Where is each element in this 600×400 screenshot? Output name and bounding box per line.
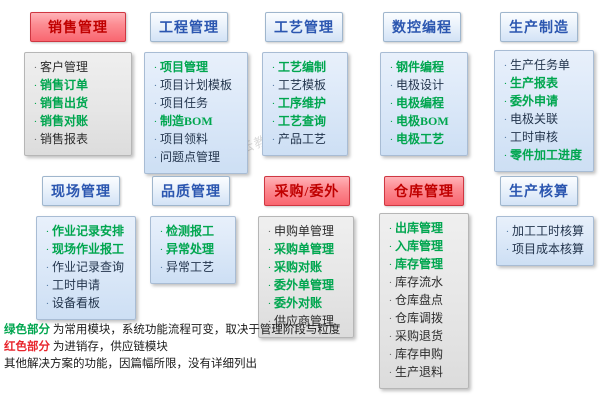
bullet-icon: ·	[265, 260, 274, 276]
list-item-label: 产品工艺	[278, 131, 326, 147]
bullet-icon: ·	[501, 94, 510, 110]
module-list-cnc: ·钢件编程·电极设计·电极编程·电极BOM·电极工艺	[380, 52, 468, 156]
list-item-label: 零件加工进度	[510, 147, 582, 163]
list-item-label: 委外对账	[274, 295, 322, 311]
list-item-label: 入库管理	[395, 238, 443, 254]
list-item[interactable]: ·委外申请	[501, 93, 589, 110]
module-list-costing: ·加工工时核算·项目成本核算	[496, 216, 594, 266]
bullet-icon: ·	[151, 78, 160, 94]
bullet-icon: ·	[387, 60, 396, 76]
bullet-icon: ·	[386, 347, 395, 363]
bullet-icon: ·	[386, 221, 395, 237]
bullet-icon: ·	[31, 132, 40, 148]
list-item[interactable]: ·钢件编程	[387, 59, 463, 76]
module-header-manufacture[interactable]: 生产制造	[500, 12, 578, 42]
bullet-icon: ·	[265, 242, 274, 258]
bullet-icon: ·	[151, 150, 160, 166]
list-item[interactable]: ·采购退货	[386, 328, 464, 345]
list-item[interactable]: ·作业记录查询	[43, 259, 131, 276]
list-item[interactable]: ·仓库盘点	[386, 292, 464, 309]
bullet-icon: ·	[269, 78, 278, 94]
list-item[interactable]: ·作业记录安排	[43, 223, 131, 240]
list-item[interactable]: ·检测报工	[157, 223, 231, 240]
bullet-icon: ·	[157, 242, 166, 258]
bullet-icon: ·	[269, 114, 278, 130]
list-item[interactable]: ·设备看板	[43, 295, 131, 312]
list-item-label: 库存管理	[395, 256, 443, 272]
legend-footer: 绿色部分 为常用模块，系统功能流程可变，取决于管理阶段与粒度 红色部分 为进销存…	[4, 322, 364, 373]
list-item-label: 项目领料	[160, 131, 208, 147]
list-item-label: 电极设计	[396, 77, 444, 93]
list-item[interactable]: ·库存管理	[386, 256, 464, 273]
list-item-label: 工艺模板	[278, 77, 326, 93]
list-item-label: 采购退货	[395, 328, 443, 344]
bullet-icon: ·	[43, 224, 52, 240]
module-item-list: ·项目管理·项目计划模板·项目任务·制造BOM·项目领料·问题点管理	[151, 59, 243, 166]
bullet-icon: ·	[501, 58, 510, 74]
list-item-label: 生产退料	[395, 364, 443, 380]
legend-row-red: 红色部分 为进销存，供应链模块	[4, 339, 364, 356]
module-list-sales: ·客户管理·销售订单·销售出货·销售对账·销售报表	[24, 52, 132, 156]
list-item[interactable]: ·零件加工进度	[501, 147, 589, 164]
list-item-label: 销售对账	[40, 113, 88, 129]
bullet-icon: ·	[387, 78, 396, 94]
module-list-manufacture: ·生产任务单·生产报表·委外申请·电极关联·工时审核·零件加工进度	[494, 50, 594, 172]
list-item-label: 销售出货	[40, 95, 88, 111]
list-item[interactable]: ·现场作业报工	[43, 241, 131, 258]
list-item[interactable]: ·项目管理	[151, 59, 243, 76]
list-item-label: 作业记录安排	[52, 223, 124, 239]
list-item-label: 库存流水	[395, 274, 443, 290]
list-item[interactable]: ·电极设计	[387, 77, 463, 94]
list-item-label: 项目成本核算	[512, 241, 584, 257]
module-header-costing[interactable]: 生产核算	[500, 176, 578, 206]
list-item-label: 加工工时核算	[512, 223, 584, 239]
bullet-icon: ·	[503, 242, 512, 258]
module-item-list: ·申购单管理·采购单管理·采购对账·委外单管理·委外对账·供应商管理	[265, 223, 349, 330]
module-list-engineering: ·项目管理·项目计划模板·项目任务·制造BOM·项目领料·问题点管理	[144, 52, 248, 174]
list-item[interactable]: ·申购单管理	[265, 223, 349, 240]
list-item-label: 项目管理	[160, 59, 208, 75]
bullet-icon: ·	[269, 60, 278, 76]
list-item-label: 电极关联	[510, 111, 558, 127]
list-item[interactable]: ·工艺模板	[269, 77, 343, 94]
bullet-icon: ·	[43, 278, 52, 294]
bullet-icon: ·	[387, 96, 396, 112]
bullet-icon: ·	[501, 112, 510, 128]
list-item-label: 采购对账	[274, 259, 322, 275]
module-list-quality: ·检测报工·异常处理·异常工艺	[150, 216, 236, 284]
bullet-icon: ·	[265, 296, 274, 312]
module-header-engineering[interactable]: 工程管理	[150, 12, 228, 42]
list-item-label: 钢件编程	[396, 59, 444, 75]
list-item-label: 委外申请	[510, 93, 558, 109]
list-item-label: 异常工艺	[166, 259, 214, 275]
list-item[interactable]: ·采购单管理	[265, 241, 349, 258]
module-list-shopfloor: ·作业记录安排·现场作业报工·作业记录查询·工时申请·设备看板	[36, 216, 136, 320]
list-item[interactable]: ·生产退料	[386, 364, 464, 381]
list-item-label: 异常处理	[166, 241, 214, 257]
list-item[interactable]: ·出库管理	[386, 220, 464, 237]
module-list-warehouse: ·出库管理·入库管理·库存管理·库存流水·仓库盘点·仓库调拨·采购退货·库存申购…	[379, 213, 469, 389]
bullet-icon: ·	[151, 114, 160, 130]
bullet-icon: ·	[157, 224, 166, 240]
list-item[interactable]: ·客户管理	[31, 59, 127, 76]
module-item-list: ·钢件编程·电极设计·电极编程·电极BOM·电极工艺	[387, 59, 463, 148]
bullet-icon: ·	[43, 242, 52, 258]
list-item-label: 申购单管理	[274, 223, 334, 239]
list-item[interactable]: ·入库管理	[386, 238, 464, 255]
bullet-icon: ·	[31, 114, 40, 130]
list-item-label: 检测报工	[166, 223, 214, 239]
bullet-icon: ·	[151, 60, 160, 76]
legend-red-text: 为进销存，供应链模块	[50, 341, 168, 353]
list-item-label: 销售订单	[40, 77, 88, 93]
bullet-icon: ·	[269, 96, 278, 112]
bullet-icon: ·	[31, 96, 40, 112]
list-item-label: 仓库调拨	[395, 310, 443, 326]
module-item-list: ·检测报工·异常处理·异常工艺	[157, 223, 231, 276]
list-item-label: 项目任务	[160, 95, 208, 111]
list-item[interactable]: ·销售对账	[31, 113, 127, 130]
bullet-icon: ·	[386, 239, 395, 255]
module-header-shopfloor[interactable]: 现场管理	[42, 176, 120, 206]
bullet-icon: ·	[157, 260, 166, 276]
list-item[interactable]: ·项目任务	[151, 95, 243, 112]
list-item[interactable]: ·电极工艺	[387, 131, 463, 148]
bullet-icon: ·	[386, 257, 395, 273]
list-item-label: 工时申请	[52, 277, 100, 293]
list-item[interactable]: ·采购对账	[265, 259, 349, 276]
module-item-list: ·出库管理·入库管理·库存管理·库存流水·仓库盘点·仓库调拨·采购退货·库存申购…	[386, 220, 464, 381]
list-item-label: 生产任务单	[510, 57, 570, 73]
list-item-label: 作业记录查询	[52, 259, 124, 275]
module-item-list: ·生产任务单·生产报表·委外申请·电极关联·工时审核·零件加工进度	[501, 57, 589, 164]
list-item-label: 客户管理	[40, 59, 88, 75]
list-item[interactable]: ·制造BOM	[151, 113, 243, 130]
list-item[interactable]: ·工艺编制	[269, 59, 343, 76]
list-item[interactable]: ·电极编程	[387, 95, 463, 112]
legend-red-keyword: 红色部分	[4, 341, 50, 353]
list-item-label: 工时审核	[510, 129, 558, 145]
list-item[interactable]: ·异常工艺	[157, 259, 231, 276]
list-item-label: 委外单管理	[274, 277, 334, 293]
module-list-process: ·工艺编制·工艺模板·工序维护·工艺查询·产品工艺	[262, 52, 348, 156]
list-item-label: 设备看板	[52, 295, 100, 311]
list-item-label: 工艺查询	[278, 113, 326, 129]
list-item[interactable]: ·销售报表	[31, 131, 127, 148]
bullet-icon: ·	[386, 311, 395, 327]
module-list-purchase: ·申购单管理·采购单管理·采购对账·委外单管理·委外对账·供应商管理	[258, 216, 354, 338]
module-header-warehouse[interactable]: 仓库管理	[384, 176, 464, 206]
list-item[interactable]: ·库存流水	[386, 274, 464, 291]
module-item-list: ·工艺编制·工艺模板·工序维护·工艺查询·产品工艺	[269, 59, 343, 148]
list-item-label: 现场作业报工	[52, 241, 124, 257]
list-item-label: 项目计划模板	[160, 77, 232, 93]
list-item-label: 制造BOM	[160, 113, 213, 129]
list-item[interactable]: ·库存申购	[386, 346, 464, 363]
legend-row-note: 其他解决方案的功能，因篇幅所限，没有详细列出	[4, 356, 364, 373]
module-item-list: ·作业记录安排·现场作业报工·作业记录查询·工时申请·设备看板	[43, 223, 131, 312]
bullet-icon: ·	[501, 76, 510, 92]
list-item[interactable]: ·委外单管理	[265, 277, 349, 294]
module-item-list: ·加工工时核算·项目成本核算	[503, 223, 589, 258]
module-header-purchase[interactable]: 采购/委外	[264, 176, 350, 206]
list-item-label: 工序维护	[278, 95, 326, 111]
list-item[interactable]: ·仓库调拨	[386, 310, 464, 327]
list-item-label: 销售报表	[40, 131, 88, 147]
list-item[interactable]: ·电极关联	[501, 111, 589, 128]
list-item[interactable]: ·项目领料	[151, 131, 243, 148]
list-item[interactable]: ·销售出货	[31, 95, 127, 112]
list-item[interactable]: ·问题点管理	[151, 149, 243, 166]
list-item[interactable]: ·加工工时核算	[503, 223, 589, 240]
list-item-label: 工艺编制	[278, 59, 326, 75]
list-item[interactable]: ·异常处理	[157, 241, 231, 258]
list-item[interactable]: ·工时申请	[43, 277, 131, 294]
list-item[interactable]: ·电极BOM	[387, 113, 463, 130]
bullet-icon: ·	[386, 365, 395, 381]
list-item[interactable]: ·工时审核	[501, 129, 589, 146]
list-item[interactable]: ·委外对账	[265, 295, 349, 312]
list-item-label: 电极工艺	[396, 131, 444, 147]
list-item[interactable]: ·项目计划模板	[151, 77, 243, 94]
bullet-icon: ·	[269, 132, 278, 148]
bullet-icon: ·	[31, 60, 40, 76]
list-item[interactable]: ·生产报表	[501, 75, 589, 92]
diagram-canvas: 云易云教作yun.com yun.com 销售管理·客户管理·销售订单·销售出货…	[0, 0, 600, 400]
list-item[interactable]: ·产品工艺	[269, 131, 343, 148]
bullet-icon: ·	[387, 132, 396, 148]
bullet-icon: ·	[151, 96, 160, 112]
bullet-icon: ·	[386, 293, 395, 309]
bullet-icon: ·	[386, 329, 395, 345]
bullet-icon: ·	[386, 275, 395, 291]
legend-green-keyword: 绿色部分	[4, 324, 50, 336]
bullet-icon: ·	[151, 132, 160, 148]
list-item[interactable]: ·销售订单	[31, 77, 127, 94]
module-header-quality[interactable]: 品质管理	[152, 176, 230, 206]
bullet-icon: ·	[387, 114, 396, 130]
module-header-sales[interactable]: 销售管理	[30, 12, 126, 42]
bullet-icon: ·	[43, 296, 52, 312]
list-item[interactable]: ·工艺查询	[269, 113, 343, 130]
list-item-label: 仓库盘点	[395, 292, 443, 308]
list-item[interactable]: ·项目成本核算	[503, 241, 589, 258]
module-header-process[interactable]: 工艺管理	[265, 12, 343, 42]
module-header-cnc[interactable]: 数控编程	[383, 12, 461, 42]
bullet-icon: ·	[503, 224, 512, 240]
bullet-icon: ·	[265, 224, 274, 240]
list-item-label: 库存申购	[395, 346, 443, 362]
list-item[interactable]: ·工序维护	[269, 95, 343, 112]
module-item-list: ·客户管理·销售订单·销售出货·销售对账·销售报表	[31, 59, 127, 148]
bullet-icon: ·	[31, 78, 40, 94]
list-item-label: 电极BOM	[396, 113, 449, 129]
bullet-icon: ·	[501, 130, 510, 146]
list-item-label: 问题点管理	[160, 149, 220, 165]
list-item[interactable]: ·生产任务单	[501, 57, 589, 74]
legend-green-text: 为常用模块，系统功能流程可变，取决于管理阶段与粒度	[50, 324, 340, 336]
list-item-label: 采购单管理	[274, 241, 334, 257]
bullet-icon: ·	[43, 260, 52, 276]
bullet-icon: ·	[501, 148, 510, 164]
bullet-icon: ·	[265, 278, 274, 294]
list-item-label: 生产报表	[510, 75, 558, 91]
list-item-label: 出库管理	[395, 220, 443, 236]
legend-row-green: 绿色部分 为常用模块，系统功能流程可变，取决于管理阶段与粒度	[4, 322, 364, 339]
list-item-label: 电极编程	[396, 95, 444, 111]
